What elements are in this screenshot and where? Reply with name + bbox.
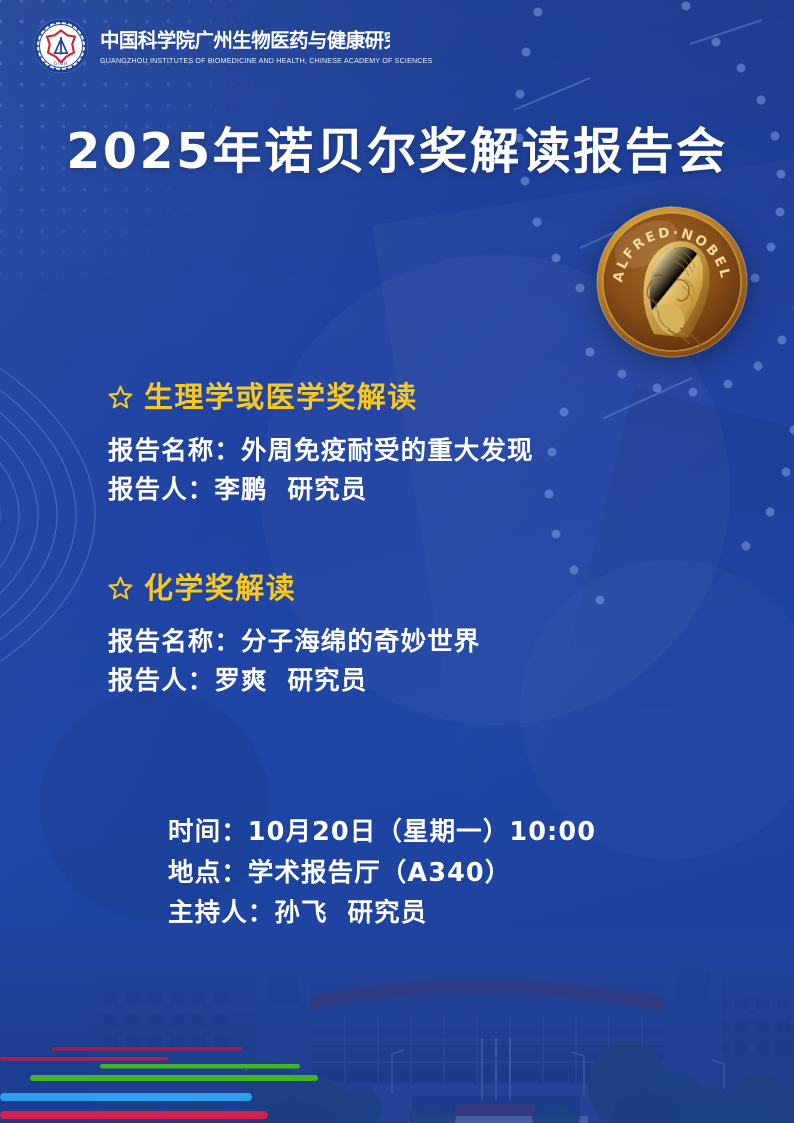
award-section-chemistry: 化学奖解读 报告名称：分子海绵的奇妙世界 报告人：罗爽 研究员 [0,571,794,700]
award-heading-row: 化学奖解读 [108,571,794,606]
poster-header: GIBH 中国科学院广州生物医药与健康研究院 中国科学院广州生物医药与健康研究院… [0,0,794,92]
page-title: 2025年诺贝尔奖解读报告会 [0,125,794,179]
accent-lines-decoration [0,1043,430,1121]
star-outline-icon [108,385,133,410]
nobel-medal-icon: ALFRED·NOBEL [596,206,748,358]
report-title-chemistry: 报告名称：分子海绵的奇妙世界 [108,623,794,662]
speaker-physiology: 报告人：李鹏 研究员 [108,471,794,510]
org-name-cn: 中国科学院广州生物医药与健康研究院 中国科学院广州生物医药与健康研究院 [100,27,390,53]
event-details: 时间：10月20日（星期一）10:00 地点：学术报告厅（A340） 主持人：孙… [0,812,794,934]
speaker-chemistry: 报告人：罗爽 研究员 [108,662,794,701]
gibh-emblem-icon: GIBH [33,18,89,74]
award-sections: 生理学或医学奖解读 报告名称：外周免疫耐受的重大发现 报告人：李鹏 研究员 化学… [0,380,794,701]
svg-text:中国科学院广州生物医药与健康研究院: 中国科学院广州生物医药与健康研究院 [100,29,390,52]
report-title-physiology: 报告名称：外周免疫耐受的重大发现 [108,432,794,471]
org-name-block: 中国科学院广州生物医药与健康研究院 中国科学院广州生物医药与健康研究院 GUAN… [100,27,432,65]
star-outline-icon [108,576,133,601]
poster-canvas: GIBH 中国科学院广州生物医药与健康研究院 中国科学院广州生物医药与健康研究院… [0,0,794,1123]
award-section-physiology: 生理学或医学奖解读 报告名称：外周免疫耐受的重大发现 报告人：李鹏 研究员 [0,380,794,509]
event-time: 时间：10月20日（星期一）10:00 [168,812,794,853]
svg-text:GIBH: GIBH [54,61,69,66]
photo-top-fade [0,928,794,974]
event-place: 地点：学术报告厅（A340） [168,853,794,894]
award-heading-row: 生理学或医学奖解读 [108,380,794,415]
award-heading-label: 化学奖解读 [144,571,296,606]
award-heading-label: 生理学或医学奖解读 [144,380,418,415]
org-name-en: GUANGZHOU INSTITUTES OF BIOMEDICINE AND … [100,57,432,65]
event-host: 主持人：孙飞 研究员 [168,893,794,934]
